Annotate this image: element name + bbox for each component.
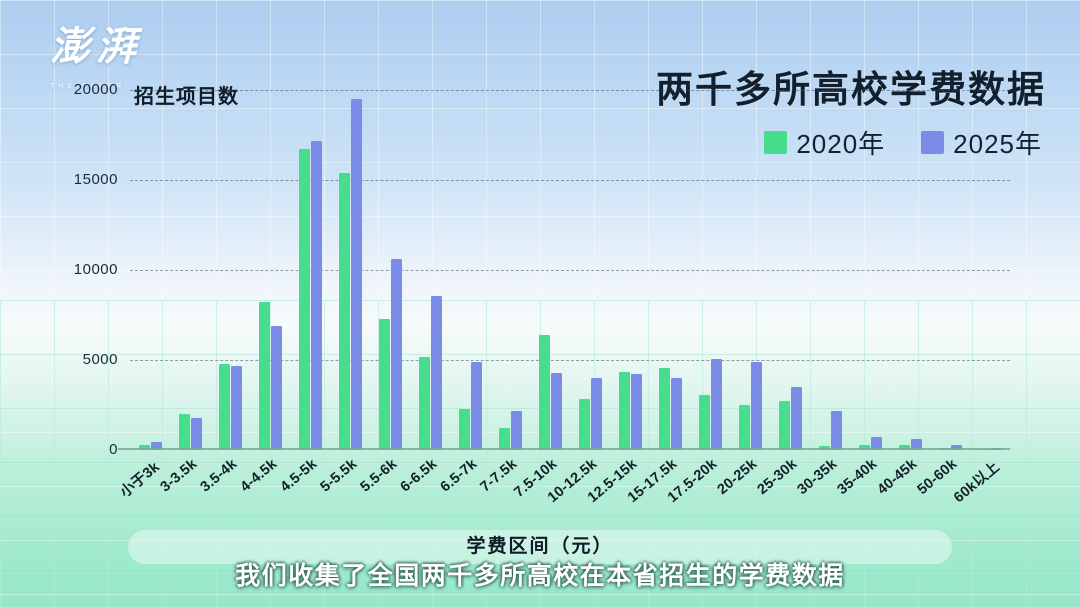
bar-2025 <box>551 373 562 450</box>
bar-group <box>250 90 290 450</box>
bar-2020 <box>739 405 750 450</box>
bar-2025 <box>271 326 282 450</box>
bar-2025 <box>591 378 602 450</box>
bar-2025 <box>791 387 802 450</box>
bar-group <box>850 90 890 450</box>
x-axis-title: 学费区间（元） <box>0 531 1080 558</box>
bar-group <box>290 90 330 450</box>
bar-2020 <box>179 414 190 450</box>
bar-group <box>970 90 1010 450</box>
bar-2025 <box>431 296 442 450</box>
bar-group <box>930 90 970 450</box>
bar-2025 <box>191 418 202 450</box>
bar-2025 <box>751 362 762 450</box>
bar-2020 <box>499 428 510 450</box>
bar-2025 <box>311 141 322 450</box>
bar-group <box>810 90 850 450</box>
bar-group <box>370 90 410 450</box>
logo-text: 澎湃 <box>50 24 142 69</box>
bar-group <box>570 90 610 450</box>
bar-groups <box>130 90 1010 450</box>
bar-group <box>890 90 930 450</box>
y-tick-label-20000: 20000 <box>48 81 118 98</box>
bar-2020 <box>419 357 430 450</box>
y-tick-label-15000: 15000 <box>48 171 118 188</box>
bar-group <box>410 90 450 450</box>
bar-2020 <box>299 149 310 450</box>
bar-group <box>530 90 570 450</box>
plot-area <box>130 90 1010 450</box>
chart-screenshot: 澎湃 THE PAPER 两千多所高校学费数据 2020年 2025年 招生项目… <box>0 0 1080 607</box>
bar-2025 <box>471 362 482 450</box>
bar-2020 <box>699 395 710 450</box>
y-tick-label-10000: 10000 <box>48 261 118 278</box>
x-axis-labels: 小于3k3-3.5k3.5-4k4-4.5k4.5-5k5-5.5k5.5-6k… <box>130 452 1010 512</box>
x-label-slot: 60k以上 <box>970 452 1010 512</box>
y-tick-label-0: 0 <box>48 441 118 458</box>
bar-group <box>770 90 810 450</box>
bar-2020 <box>379 319 390 450</box>
bar-2020 <box>339 173 350 450</box>
bar-group <box>450 90 490 450</box>
bar-2020 <box>619 372 630 450</box>
bar-2025 <box>511 411 522 450</box>
bar-2025 <box>351 99 362 450</box>
bar-2020 <box>459 409 470 450</box>
subtitle-caption: 我们收集了全国两千多所高校在本省招生的学费数据 <box>0 556 1080 592</box>
bar-2020 <box>579 399 590 450</box>
bar-2020 <box>539 335 550 450</box>
bar-2025 <box>391 259 402 450</box>
bar-2025 <box>711 359 722 450</box>
bar-2020 <box>219 364 230 450</box>
bar-group <box>650 90 690 450</box>
bar-2025 <box>231 366 242 450</box>
bar-group <box>490 90 530 450</box>
bar-2025 <box>631 374 642 450</box>
bar-group <box>210 90 250 450</box>
bar-group <box>610 90 650 450</box>
pengpai-logo: 澎湃 THE PAPER <box>50 26 180 84</box>
bar-group <box>170 90 210 450</box>
bar-2020 <box>659 368 670 450</box>
bar-group <box>730 90 770 450</box>
bar-group <box>690 90 730 450</box>
bar-2025 <box>831 411 842 450</box>
x-axis-line <box>118 448 1010 450</box>
bar-2020 <box>259 302 270 450</box>
bar-2020 <box>779 401 790 450</box>
x-axis-tick-label: 小于3k <box>115 456 164 502</box>
bar-group <box>130 90 170 450</box>
bar-group <box>330 90 370 450</box>
y-tick-label-5000: 5000 <box>48 351 118 368</box>
bar-2025 <box>671 378 682 450</box>
